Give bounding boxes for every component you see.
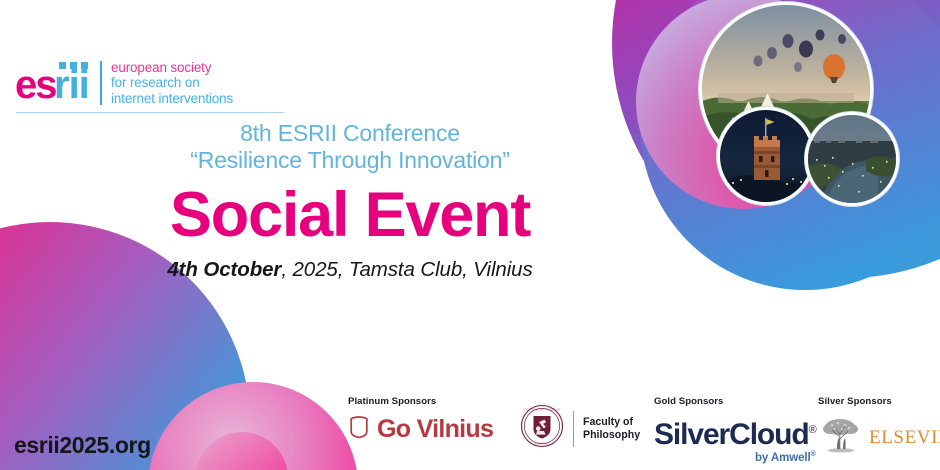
- esrii-logo-mark: es rii: [16, 58, 94, 108]
- faculty-line-1: Faculty of: [583, 416, 640, 429]
- sponsor-logo-silvercloud[interactable]: SilverCloud® by Amwell®: [654, 415, 816, 464]
- website-url[interactable]: esrii2025.org: [14, 432, 151, 459]
- svg-text:MDLXXIX: MDLXXIX: [535, 442, 550, 446]
- event-details: 4th October, 2025, Tamsta Club, Vilnius: [0, 258, 700, 282]
- elsevier-tree-icon: [818, 415, 868, 460]
- elsevier-wordmark: ELSEVIER: [869, 427, 940, 449]
- page-title: Social Event: [0, 178, 700, 252]
- event-banner: es rii european society for research on …: [0, 0, 940, 470]
- photo-gediminas-tower: [720, 110, 812, 202]
- photo-vilnius-aerial: [808, 115, 896, 203]
- pink-blob-bottom-left: [148, 382, 358, 470]
- pink-blob-small-bottom: [196, 432, 288, 470]
- event-venue: , 2025, Tamsta Club, Vilnius: [281, 258, 532, 281]
- silvercloud-wordmark: SilverCloud: [654, 418, 809, 451]
- platinum-sponsor-logos: Go Vilnius: [348, 415, 493, 444]
- sponsor-logo-faculty-of-philosophy[interactable]: UNIVERSITAS VILNENSIS MDLXXIX Faculty of…: [520, 404, 640, 453]
- silvercloud-byline: by Amwell®: [654, 451, 816, 464]
- svg-text:rii: rii: [54, 63, 89, 107]
- esrii-logo: es rii european society for research on …: [16, 58, 233, 108]
- silvercloud-byline-text: by Amwell: [755, 452, 811, 464]
- conference-name: 8th ESRII Conference: [0, 120, 700, 147]
- sponsor-logo-go-vilnius[interactable]: Go Vilnius: [348, 415, 493, 444]
- gold-sponsors-heading: Gold Sponsors: [654, 396, 816, 407]
- svg-text:UNIVERSITAS VILNENSIS: UNIVERSITAS VILNENSIS: [524, 408, 561, 412]
- vu-faculty-divider: [573, 411, 574, 447]
- event-date-bold: 4th October: [167, 258, 281, 281]
- conference-theme: “Resilience Through Innovation”: [0, 147, 700, 174]
- tagline-line-2: for research on: [111, 75, 233, 90]
- tagline-line-3: internet interventions: [111, 91, 233, 106]
- go-vilnius-label: Go Vilnius: [377, 415, 493, 444]
- platinum-sponsors-group: Platinum Sponsors Go Vilnius: [348, 396, 493, 444]
- platinum-sponsors-heading: Platinum Sponsors: [348, 396, 493, 407]
- svg-text:es: es: [16, 63, 56, 107]
- tagline-line-1: european society: [111, 60, 233, 75]
- silver-sponsors-group: Silver Sponsors: [818, 396, 940, 460]
- sponsor-logo-elsevier[interactable]: ELSEVIER: [818, 415, 940, 460]
- go-vilnius-shield-icon: [348, 415, 370, 444]
- silver-sponsors-heading: Silver Sponsors: [818, 396, 940, 407]
- headline-block: 8th ESRII Conference “Resilience Through…: [0, 120, 700, 282]
- gold-sponsors-group: Gold Sponsors SilverCloud® by Amwell®: [654, 396, 816, 464]
- esrii-tagline: european society for research on interne…: [111, 60, 233, 106]
- faculty-line-2: Philosophy: [583, 429, 640, 442]
- vilnius-university-seal-icon: UNIVERSITAS VILNENSIS MDLXXIX: [520, 404, 564, 453]
- faculty-of-philosophy-label: Faculty of Philosophy: [583, 416, 640, 442]
- silvercloud-label: SilverCloud®: [654, 415, 816, 450]
- logo-divider: [100, 61, 102, 105]
- logo-underline: [16, 112, 284, 113]
